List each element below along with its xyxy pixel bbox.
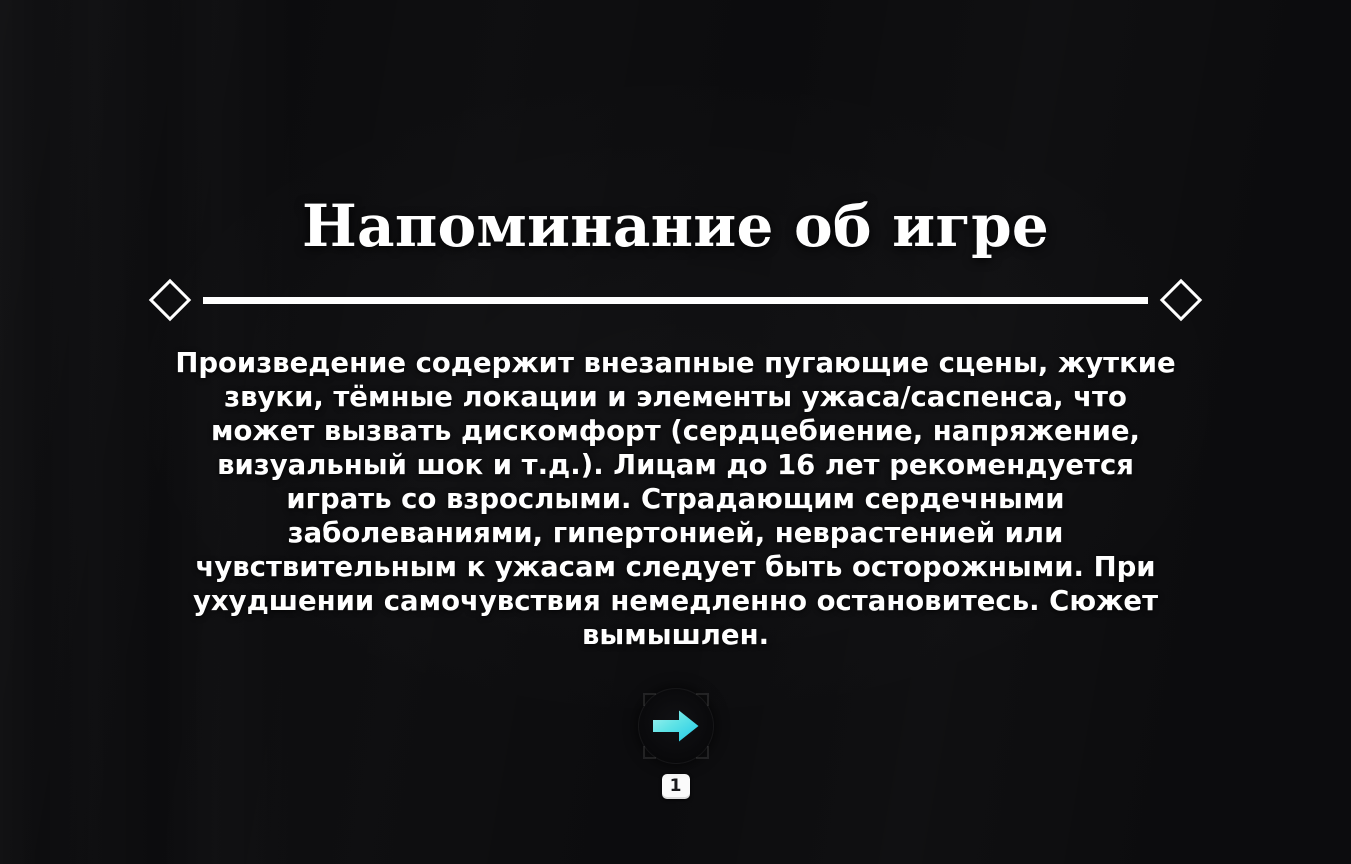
key-hint-badge[interactable]: 1 bbox=[662, 774, 690, 799]
continue-control-group: 1 bbox=[638, 688, 714, 799]
warning-body-text: Произведение содержит внезапные пугающие… bbox=[171, 346, 1181, 652]
bracket-top-right-icon bbox=[696, 693, 709, 706]
content-warning-overlay: Напоминание об игре Произведение содержи… bbox=[0, 0, 1351, 864]
diamond-right-icon bbox=[1160, 279, 1202, 321]
continue-button[interactable] bbox=[638, 688, 714, 764]
bracket-bottom-left-icon bbox=[643, 746, 656, 759]
arrow-right-icon bbox=[653, 709, 699, 743]
page-title: Напоминание об игре bbox=[0, 196, 1351, 257]
title-divider bbox=[155, 279, 1196, 321]
divider-line bbox=[203, 297, 1148, 304]
diamond-left-icon bbox=[149, 279, 191, 321]
bracket-bottom-right-icon bbox=[696, 746, 709, 759]
bracket-top-left-icon bbox=[643, 693, 656, 706]
game-screen: Напоминание об игре Произведение содержи… bbox=[0, 0, 1351, 864]
